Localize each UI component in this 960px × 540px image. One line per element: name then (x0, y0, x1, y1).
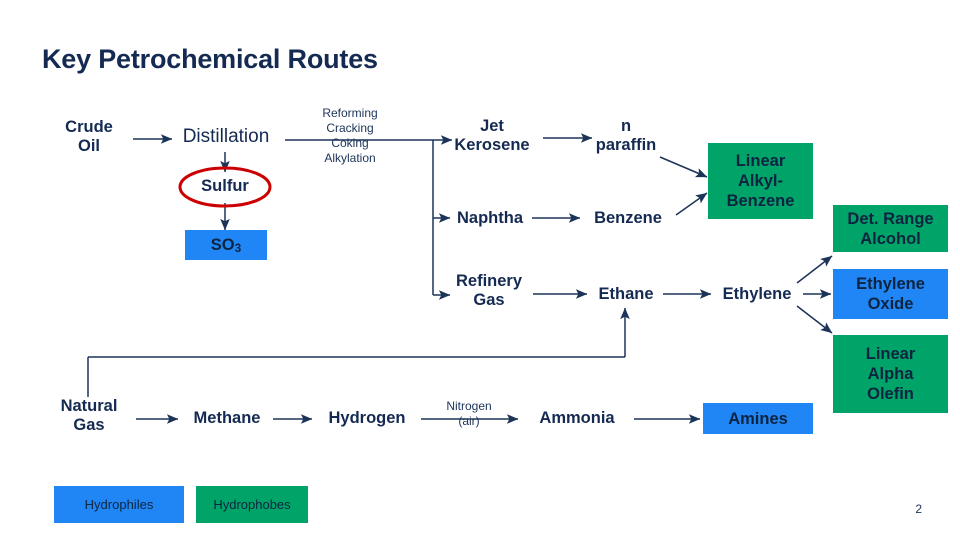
slide-canvas: Key Petrochemical Routes (0, 0, 960, 540)
node-crude-oil: Crude Oil (48, 118, 130, 156)
node-natural-gas: Natural Gas (48, 397, 130, 435)
legend-swatch-hydrophiles: Hydrophiles (54, 486, 184, 523)
node-refinery-gas: Refinery Gas (444, 272, 534, 310)
connector-layer (0, 0, 960, 540)
box-amines: Amines (703, 403, 813, 434)
node-ammonia: Ammonia (521, 409, 633, 428)
box-linear-alkyl-benzene: Linear Alkyl- Benzene (708, 143, 813, 219)
node-methane: Methane (181, 409, 273, 428)
node-jet-kerosene: Jet Kerosene (441, 117, 543, 155)
box-linear-alpha-olefin: Linear Alpha Olefin (833, 335, 948, 413)
node-hydrogen: Hydrogen (312, 409, 422, 428)
annotation-refining-processes: Reforming Cracking Coking Alkylation (300, 106, 400, 166)
node-sulfur: Sulfur (185, 177, 265, 196)
page-title: Key Petrochemical Routes (42, 44, 378, 75)
node-distillation: Distillation (172, 127, 280, 146)
node-naphtha: Naphtha (446, 209, 534, 228)
node-n-paraffin: n paraffin (588, 117, 664, 155)
node-ethane: Ethane (586, 285, 666, 304)
page-number: 2 (915, 502, 922, 516)
legend-swatch-hydrophobes: Hydrophobes (196, 486, 308, 523)
node-benzene: Benzene (582, 209, 674, 228)
node-ethylene: Ethylene (711, 285, 803, 304)
box-so3: SO3 (185, 230, 267, 260)
box-det-range-alcohol: Det. Range Alcohol (833, 205, 948, 252)
annotation-nitrogen-air: Nitrogen (air) (433, 399, 505, 429)
box-ethylene-oxide: Ethylene Oxide (833, 269, 948, 319)
